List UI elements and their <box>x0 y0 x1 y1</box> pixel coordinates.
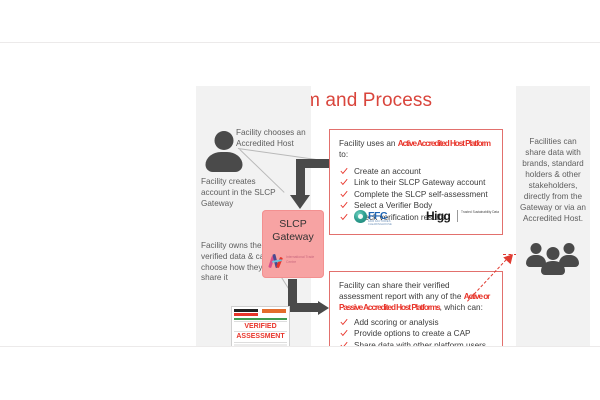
ffc-mark-icon <box>354 210 367 223</box>
person-body-icon <box>206 152 243 172</box>
higg-logo-subtext: Trusted Sustainability Data <box>461 210 499 214</box>
slcp-gateway-tag[interactable]: SLCP Gateway International Trade Centre <box>262 210 324 278</box>
slide-canvas: SLCP System and Process Facility chooses… <box>0 42 600 347</box>
list-item: Share data with other platform users <box>339 340 496 347</box>
ffc-logo: FFC FAIR FACTORIES CLEARINGHOUSE <box>354 209 404 225</box>
label-facility-owns-data: Facility owns the verified data & can ch… <box>201 241 269 284</box>
box1-highlight: Active Accredited Host Platform <box>398 139 490 148</box>
ffc-logo-subtext: FAIR FACTORIES CLEARINGHOUSE <box>368 220 404 226</box>
right-column-panel: Facilities can share data with brands, s… <box>516 86 590 347</box>
check-icon <box>340 190 348 198</box>
doc-brand-left <box>234 309 258 312</box>
group-person-center-icon <box>540 247 565 274</box>
check-icon <box>340 318 348 326</box>
doc-rule-1 <box>234 321 287 322</box>
list-item: Provide options to create a CAP <box>339 328 496 339</box>
box1-lead-text: Facility uses an Active Accredited Host … <box>339 138 494 160</box>
stakeholders-group-icon <box>525 239 581 273</box>
gateway-label: SLCP Gateway <box>262 218 324 244</box>
check-icon <box>340 201 348 209</box>
itc-logo-text: International Trade Centre <box>286 255 319 265</box>
box2-checklist: Add scoring or analysis Provide options … <box>339 317 496 347</box>
doc-brand-right <box>262 309 286 313</box>
list-item: Create an account <box>339 166 496 177</box>
doc-stamp-line2: ASSESSMENT <box>234 332 287 342</box>
doc-rule-2 <box>234 331 287 332</box>
check-icon <box>340 341 348 347</box>
higg-logo-text: Higg <box>426 209 450 223</box>
active-host-platform-box: Facility uses an Active Accredited Host … <box>329 129 503 235</box>
verified-assessment-thumbnail: VERIFIED ASSESSMENT <box>231 306 290 347</box>
label-facility-creates-account: Facility creates account in the SLCP Gat… <box>201 177 279 209</box>
stakeholders-description: Facilities can share data with brands, s… <box>520 136 586 224</box>
check-icon <box>340 329 348 337</box>
list-item: Add scoring or analysis <box>339 317 496 328</box>
list-item: Complete the SLCP self-assessment <box>339 189 496 200</box>
doc-green-rule <box>234 318 287 320</box>
check-icon <box>340 213 348 221</box>
doc-footer-1 <box>234 344 287 347</box>
itc-logo: International Trade Centre <box>269 254 319 272</box>
check-icon <box>340 178 348 186</box>
label-facility-chooses-host: Facility chooses an Accredited Host <box>236 128 328 150</box>
higg-divider <box>457 210 458 222</box>
person-head-icon <box>215 131 234 150</box>
doc-brand-underline <box>234 313 258 316</box>
itc-mark-icon <box>269 254 284 270</box>
list-item: Link to their SLCP Gateway account <box>339 177 496 188</box>
doc-rule-3 <box>234 342 287 343</box>
check-icon <box>340 167 348 175</box>
